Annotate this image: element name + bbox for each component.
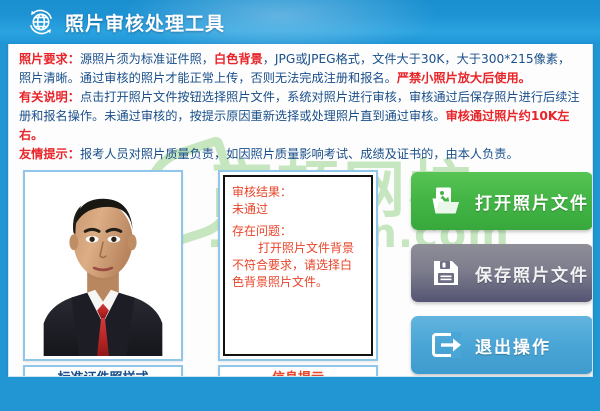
- notes-label: 有关说明：: [19, 90, 80, 104]
- result-value: 未通过: [232, 201, 365, 218]
- instruction-notes: 有关说明：点击打开照片文件按钮选择照片文件，系统对照片进行审核，审核通过后保存照…: [19, 88, 582, 145]
- tip-text: 报考人员对照片质量负责，如因照片质量影响考试、成绩及证书的，由本人负责。: [80, 147, 519, 161]
- requirements-highlight-2: 严禁小照片放大后使用。: [397, 71, 531, 85]
- tip-label: 友情提示：: [19, 147, 80, 161]
- window-title: 照片审核处理工具: [65, 9, 225, 36]
- problem-line-1: 打开照片文件背景: [232, 240, 365, 257]
- bottom-blue-strip: [0, 377, 600, 411]
- open-photo-file-label: 打开照片文件: [475, 189, 589, 214]
- requirements-text-1: 源照片须为标准证件照，: [80, 52, 214, 66]
- instructions-block: 照片要求：源照片须为标准证件照，白色背景，JPG或JPEG格式，文件大于30K，…: [9, 44, 592, 164]
- sample-photo-caption: 标准证件照样式: [23, 365, 183, 377]
- message-frame: 审核结果： 未通过 存在问题： 打开照片文件背景 不符合要求，请选择白 色背景照…: [218, 170, 378, 361]
- globe-refresh-icon: [26, 7, 56, 37]
- problem-label: 存在问题：: [232, 223, 365, 240]
- requirements-label: 照片要求：: [19, 52, 80, 66]
- exit-button[interactable]: 退出操作: [411, 316, 593, 374]
- open-photo-file-button[interactable]: 打开照片文件: [411, 172, 593, 230]
- save-photo-file-label: 保存照片文件: [475, 261, 589, 286]
- save-photo-file-button[interactable]: 保存照片文件: [411, 244, 593, 302]
- action-button-column: 打开照片文件 保存照片文件: [411, 170, 593, 377]
- requirements-highlight-1: 白色背景: [214, 52, 263, 66]
- problem-line-2: 不符合要求，请选择白: [232, 257, 365, 274]
- sample-photo-image: [28, 175, 178, 356]
- window-body: 高顿网校 .gaodun.com 照片要求：源照片须为标准证件照，白色背景，JP…: [8, 44, 593, 377]
- result-label: 审核结果：: [232, 184, 365, 201]
- instruction-requirements: 照片要求：源照片须为标准证件照，白色背景，JPG或JPEG格式，文件大于30K，…: [19, 50, 582, 88]
- title-bar: 照片审核处理工具: [0, 0, 600, 44]
- message-panel-caption: 信息提示: [218, 365, 378, 377]
- app-window: 照片审核处理工具 高顿网校 .gaodun.com 照片要求：源照片须为标准证件…: [0, 0, 600, 411]
- message-text-area: 审核结果： 未通过 存在问题： 打开照片文件背景 不符合要求，请选择白 色背景照…: [223, 175, 373, 356]
- sample-photo-panel: 标准证件照样式: [23, 170, 183, 377]
- floppy-save-icon: [429, 256, 463, 290]
- exit-label: 退出操作: [475, 333, 551, 358]
- open-photo-folder-icon: [429, 184, 463, 218]
- problem-line-3: 色背景照片文件。: [232, 274, 365, 291]
- main-content-row: 标准证件照样式 审核结果： 未通过 存在问题： 打开照片文件背景 不符合要求，请…: [9, 170, 592, 377]
- exit-arrow-icon: [429, 328, 463, 362]
- instruction-tip: 友情提示：报考人员对照片质量负责，如因照片质量影响考试、成绩及证书的，由本人负责…: [19, 145, 582, 164]
- sample-photo-frame: [23, 170, 183, 361]
- message-panel: 审核结果： 未通过 存在问题： 打开照片文件背景 不符合要求，请选择白 色背景照…: [218, 170, 378, 377]
